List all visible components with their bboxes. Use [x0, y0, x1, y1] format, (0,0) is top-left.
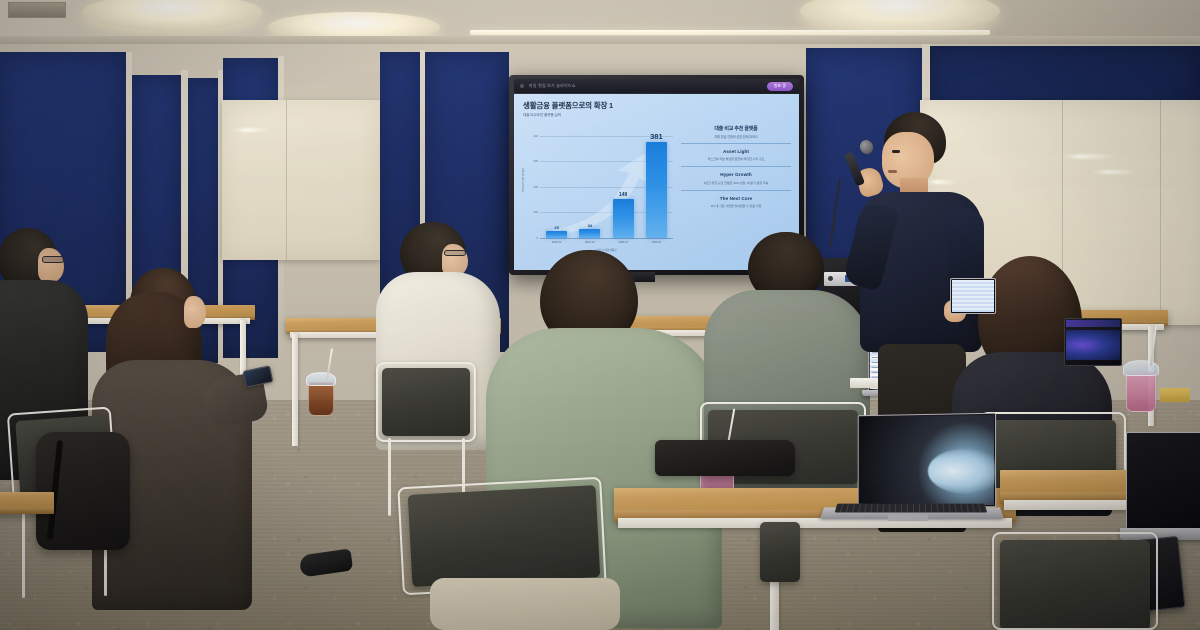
bar-value-label: 381 [650, 132, 663, 141]
whiteboard-left-seam [286, 100, 287, 260]
iced-americano-cup[interactable] [308, 382, 334, 416]
front-silver-laptop[interactable] [858, 413, 996, 508]
bar-chart: 대출 취급액 (억원) 400 300 200 100 [523, 122, 675, 258]
x-tick-label: 2020.12 [540, 240, 573, 244]
right-monitor-content [1066, 330, 1120, 360]
chair-frame[interactable] [992, 532, 1158, 630]
chair-leg [22, 500, 25, 598]
bar-group: 34 [573, 132, 606, 238]
card-description: 리스크와 자본 부담을 완전히 제거한 수익 구조 [683, 156, 789, 161]
table-leg [292, 334, 298, 446]
face-profile [184, 296, 206, 328]
bar-group: 149 [607, 132, 640, 238]
whiteboard-left [222, 100, 380, 260]
card-description: 5년간 취급 규모 연평균 20% 성장, 여 분기 성장 지속 [683, 180, 789, 185]
bar-value-label: 25 [554, 225, 558, 230]
whiteboard-right-glint-2 [1090, 170, 1140, 174]
bar-group: 381 [640, 132, 673, 238]
laptop-keyboard[interactable] [835, 504, 988, 513]
chart-y-axis-label: 대출 취급액 (억원) [522, 168, 526, 192]
bar [646, 142, 667, 238]
card-title: Hyper Growth [683, 172, 789, 177]
snack-plate [1160, 388, 1190, 402]
mouth-icon [888, 170, 897, 173]
chart-x-axis [540, 238, 673, 239]
glasses-icon [444, 250, 466, 256]
highlight-card: Asset Light 리스크와 자본 부담을 완전히 제거한 수익 구조 [681, 143, 791, 167]
app-menu-dot [520, 84, 524, 88]
x-tick-label: 2023.12 [640, 240, 673, 244]
bar-value-label: 149 [619, 192, 627, 198]
smartphone[interactable] [243, 365, 274, 387]
whiteboard-right-seam-2 [1160, 100, 1161, 325]
slide-app-toolbar[interactable]: 파일 편집 보기 슬라이드쇼 발표 중 [514, 79, 799, 93]
seminar-room-scene: 파일 편집 보기 슬라이드쇼 발표 중 생활금융 플랫폼으로의 확장 1 대출 … [0, 0, 1200, 630]
y-tick-label: 200 [533, 185, 538, 189]
right-laptop-dark[interactable] [1126, 432, 1200, 532]
bar [579, 229, 600, 237]
chair-frame[interactable] [376, 362, 476, 442]
slide-title: 생활금융 플랫폼으로의 확장 1 [523, 100, 791, 111]
y-tick-label: 100 [533, 210, 538, 214]
face-profile [38, 248, 64, 282]
far-laptop[interactable] [950, 278, 996, 314]
glasses-icon [42, 256, 64, 263]
whiteboard-left-glint [232, 128, 272, 132]
presenting-badge[interactable]: 발표 중 [767, 82, 793, 91]
chair-leg [388, 438, 391, 516]
iced-tea-cup[interactable] [1126, 372, 1156, 412]
cup-lid [306, 372, 336, 386]
chair-back[interactable] [760, 522, 800, 582]
bar [613, 199, 634, 237]
cards-header: 대출 비교 추천 플랫폼 자체 취급 건대비 성장 한계 ZERO [681, 124, 791, 143]
cup-lid [1123, 360, 1159, 376]
y-tick-label: 400 [533, 134, 538, 138]
bar-group: 25 [540, 132, 573, 238]
card-title: Asset Light [683, 149, 789, 154]
chart-plot-area: 400 300 200 100 0 [540, 132, 673, 238]
far-laptop-content [952, 280, 994, 312]
app-menu-labels: 파일 편집 보기 슬라이드쇼 [529, 83, 576, 89]
ceiling-vent [8, 2, 66, 18]
cards-header-subtitle: 자체 취급 건대비 성장 한계 ZERO [681, 134, 791, 139]
chart-x-tick-labels: 2020.12 2021.12 2022.12 2023.12 [540, 240, 673, 244]
slide-subtitle: 대출 비교추천 플랫폼 실적 [523, 113, 791, 118]
eye-icon [892, 150, 900, 153]
x-tick-label: 2022.12 [607, 240, 640, 244]
right-monitor-topbar [1066, 320, 1120, 327]
card-title: The Next Core [683, 196, 789, 201]
chair-cushion [430, 578, 620, 630]
laptop-trackpad[interactable] [888, 514, 928, 521]
highlight-card: Hyper Growth 5년간 취급 규모 연평균 20% 성장, 여 분기 … [681, 166, 791, 190]
cards-header-title: 대출 비교 추천 플랫폼 [681, 125, 791, 132]
y-tick-label: 0 [536, 236, 538, 240]
chart-bars: 25 34 149 3 [540, 132, 673, 238]
y-tick-label: 300 [533, 159, 538, 163]
card-description: 2/1 내 기존 사업을 뛰어넘을 수 있음 사업 [683, 203, 789, 208]
highlight-card: The Next Core 2/1 내 기존 사업을 뛰어넘을 수 있음 사업 [681, 190, 791, 214]
ceiling-light-strip [470, 30, 990, 35]
x-tick-label: 2021.12 [573, 240, 606, 244]
bar-value-label: 34 [588, 223, 592, 228]
table-front-left [0, 492, 54, 514]
laptop-sleeve-bag [655, 440, 795, 476]
whiteboard-right-glint-1 [1060, 154, 1118, 159]
microphone-icon[interactable] [858, 138, 875, 156]
table-apron [618, 518, 1012, 528]
